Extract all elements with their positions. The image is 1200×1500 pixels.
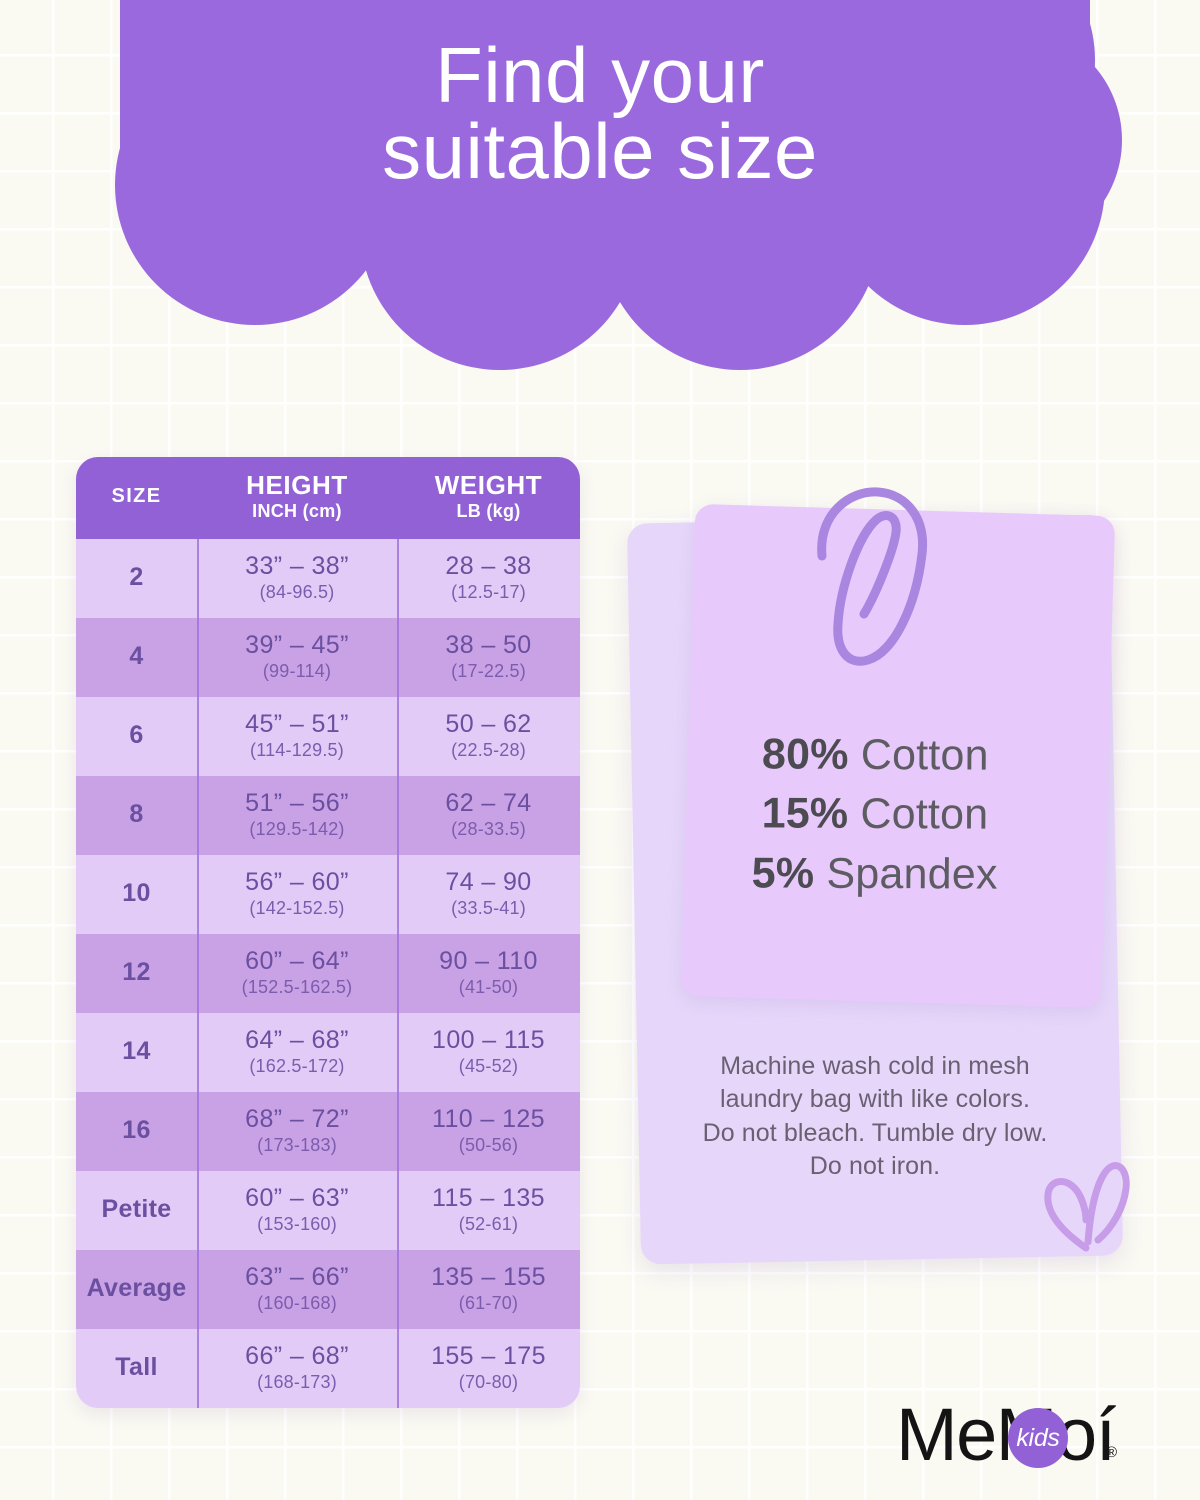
cell-weight-lb: 115 – 135 xyxy=(399,1184,578,1212)
care-instructions-text: Machine wash cold in meshlaundry bag wit… xyxy=(650,1050,1100,1183)
composition-line: 15% Cotton xyxy=(640,784,1110,846)
column-header-height-unit: INCH (cm) xyxy=(199,501,395,522)
care-line: Machine wash cold in mesh xyxy=(650,1050,1100,1083)
table-row: 1668” – 72”(173-183)110 – 125(50-56) xyxy=(76,1092,580,1171)
cell-height: 60” – 63”(153-160) xyxy=(197,1171,397,1250)
cell-height: 66” – 68”(168-173) xyxy=(197,1329,397,1408)
cell-size: 12 xyxy=(76,934,197,1013)
cell-size-value: Petite xyxy=(78,1184,195,1235)
cell-weight: 50 – 62(22.5-28) xyxy=(397,697,580,776)
column-header-weight-label: WEIGHT xyxy=(399,472,578,500)
cell-height-inches: 51” – 56” xyxy=(199,789,395,817)
column-header-size: SIZE xyxy=(76,457,197,539)
cell-weight-kg: (52-61) xyxy=(399,1214,578,1235)
cell-height-cm: (160-168) xyxy=(199,1293,395,1314)
cell-weight-kg: (22.5-28) xyxy=(399,740,578,761)
column-header-weight: WEIGHT LB (kg) xyxy=(397,457,580,539)
cell-height-inches: 45” – 51” xyxy=(199,710,395,738)
cell-weight: 74 – 90(33.5-41) xyxy=(397,855,580,934)
paperclip-icon xyxy=(806,484,956,680)
cell-weight: 62 – 74(28-33.5) xyxy=(397,776,580,855)
table-row: 439” – 45”(99-114)38 – 50(17-22.5) xyxy=(76,618,580,697)
cell-height-cm: (168-173) xyxy=(199,1372,395,1393)
care-line: laundry bag with like colors. xyxy=(650,1083,1100,1116)
cell-size-value: 12 xyxy=(78,947,195,998)
cell-height: 33” – 38”(84-96.5) xyxy=(197,539,397,618)
cell-weight-lb: 110 – 125 xyxy=(399,1105,578,1133)
table-row: 851” – 56”(129.5-142)62 – 74(28-33.5) xyxy=(76,776,580,855)
cell-height-cm: (99-114) xyxy=(199,661,395,682)
cell-size-value: Tall xyxy=(78,1342,195,1393)
composition-percent: 80% xyxy=(762,730,849,778)
cell-height-inches: 33” – 38” xyxy=(199,552,395,580)
cell-height-inches: 64” – 68” xyxy=(199,1026,395,1054)
cell-weight-kg: (61-70) xyxy=(399,1293,578,1314)
cell-height-inches: 66” – 68” xyxy=(199,1342,395,1370)
cell-size: Tall xyxy=(76,1329,197,1408)
cell-weight-kg: (28-33.5) xyxy=(399,819,578,840)
cell-weight: 110 – 125(50-56) xyxy=(397,1092,580,1171)
cell-height-inches: 68” – 72” xyxy=(199,1105,395,1133)
heart-icon xyxy=(1040,1156,1136,1260)
brand-logo: MeMoí kids ® xyxy=(896,1392,1146,1478)
table-row: Tall66” – 68”(168-173)155 – 175(70-80) xyxy=(76,1329,580,1408)
cell-weight-kg: (41-50) xyxy=(399,977,578,998)
table-row: 1464” – 68”(162.5-172)100 – 115(45-52) xyxy=(76,1013,580,1092)
cell-height: 56” – 60”(142-152.5) xyxy=(197,855,397,934)
composition-material: Cotton xyxy=(848,790,988,839)
cell-size: 4 xyxy=(76,618,197,697)
cell-weight-lb: 135 – 155 xyxy=(399,1263,578,1291)
cell-weight-lb: 74 – 90 xyxy=(399,868,578,896)
cell-weight-kg: (12.5-17) xyxy=(399,582,578,603)
cell-weight: 100 – 115(45-52) xyxy=(397,1013,580,1092)
table-row: Average63” – 66”(160-168)135 – 155(61-70… xyxy=(76,1250,580,1329)
care-line: Do not bleach. Tumble dry low. xyxy=(650,1117,1100,1150)
cell-weight: 115 – 135(52-61) xyxy=(397,1171,580,1250)
fabric-composition-list: 80% Cotton15% Cotton5% Spandex xyxy=(640,725,1111,905)
cell-height-cm: (114-129.5) xyxy=(199,740,395,761)
cell-weight-lb: 28 – 38 xyxy=(399,552,578,580)
table-header-row: SIZE HEIGHT INCH (cm) WEIGHT LB (kg) xyxy=(76,457,580,539)
cell-size-value: Average xyxy=(78,1263,195,1314)
cell-size-value: 2 xyxy=(78,552,195,603)
column-header-size-label: SIZE xyxy=(78,472,195,521)
cell-height: 64” – 68”(162.5-172) xyxy=(197,1013,397,1092)
cell-size: 2 xyxy=(76,539,197,618)
size-chart-table: SIZE HEIGHT INCH (cm) WEIGHT LB (kg) 233… xyxy=(76,457,580,1408)
composition-percent: 5% xyxy=(752,849,815,897)
cell-weight: 90 – 110(41-50) xyxy=(397,934,580,1013)
cell-height-inches: 63” – 66” xyxy=(199,1263,395,1291)
composition-material: Cotton xyxy=(849,731,989,780)
cell-size-value: 10 xyxy=(78,868,195,919)
cell-size-value: 8 xyxy=(78,789,195,840)
cell-weight-kg: (45-52) xyxy=(399,1056,578,1077)
cell-height-cm: (153-160) xyxy=(199,1214,395,1235)
cell-weight-kg: (50-56) xyxy=(399,1135,578,1156)
table-row: 645” – 51”(114-129.5)50 – 62(22.5-28) xyxy=(76,697,580,776)
cell-size-value: 6 xyxy=(78,710,195,761)
column-header-weight-unit: LB (kg) xyxy=(399,501,578,522)
title-line-1: Find your xyxy=(0,38,1200,114)
cell-height: 68” – 72”(173-183) xyxy=(197,1092,397,1171)
cell-weight-kg: (33.5-41) xyxy=(399,898,578,919)
cell-size-value: 4 xyxy=(78,631,195,682)
cell-height: 60” – 64”(152.5-162.5) xyxy=(197,934,397,1013)
cell-weight-lb: 62 – 74 xyxy=(399,789,578,817)
column-header-height: HEIGHT INCH (cm) xyxy=(197,457,397,539)
cell-height-cm: (84-96.5) xyxy=(199,582,395,603)
cell-size-value: 16 xyxy=(78,1105,195,1156)
cell-height-cm: (152.5-162.5) xyxy=(199,977,395,998)
cell-weight-lb: 50 – 62 xyxy=(399,710,578,738)
cell-height-inches: 56” – 60” xyxy=(199,868,395,896)
cell-weight-lb: 38 – 50 xyxy=(399,631,578,659)
cell-weight-lb: 90 – 110 xyxy=(399,947,578,975)
cell-weight-kg: (17-22.5) xyxy=(399,661,578,682)
registered-trademark-mark: ® xyxy=(1106,1444,1117,1461)
page-title: Find your suitable size xyxy=(0,38,1200,189)
cell-height: 51” – 56”(129.5-142) xyxy=(197,776,397,855)
cell-size-value: 14 xyxy=(78,1026,195,1077)
cell-weight: 155 – 175(70-80) xyxy=(397,1329,580,1408)
cell-height: 39” – 45”(99-114) xyxy=(197,618,397,697)
table-row: Petite60” – 63”(153-160)115 – 135(52-61) xyxy=(76,1171,580,1250)
cell-weight: 38 – 50(17-22.5) xyxy=(397,618,580,697)
cell-height: 63” – 66”(160-168) xyxy=(197,1250,397,1329)
cell-height-inches: 60” – 64” xyxy=(199,947,395,975)
cell-height-inches: 39” – 45” xyxy=(199,631,395,659)
cell-size: 8 xyxy=(76,776,197,855)
cell-size: 10 xyxy=(76,855,197,934)
cell-weight: 135 – 155(61-70) xyxy=(397,1250,580,1329)
cell-size: 14 xyxy=(76,1013,197,1092)
composition-material: Spandex xyxy=(814,849,998,898)
cell-size: Petite xyxy=(76,1171,197,1250)
table-row: 1056” – 60”(142-152.5)74 – 90(33.5-41) xyxy=(76,855,580,934)
cell-weight-kg: (70-80) xyxy=(399,1372,578,1393)
table-row: 1260” – 64”(152.5-162.5)90 – 110(41-50) xyxy=(76,934,580,1013)
cell-height-cm: (162.5-172) xyxy=(199,1056,395,1077)
composition-line: 80% Cotton xyxy=(640,725,1110,787)
cell-height-cm: (129.5-142) xyxy=(199,819,395,840)
cell-size: 6 xyxy=(76,697,197,776)
cell-weight-lb: 100 – 115 xyxy=(399,1026,578,1054)
cell-size: 16 xyxy=(76,1092,197,1171)
cell-height: 45” – 51”(114-129.5) xyxy=(197,697,397,776)
kids-badge: kids xyxy=(1008,1408,1068,1468)
cell-height-cm: (173-183) xyxy=(199,1135,395,1156)
table-row: 233” – 38”(84-96.5)28 – 38(12.5-17) xyxy=(76,539,580,618)
table-body: 233” – 38”(84-96.5)28 – 38(12.5-17)439” … xyxy=(76,539,580,1408)
logo-wordmark: MeMoí xyxy=(896,1392,1115,1478)
cell-height-cm: (142-152.5) xyxy=(199,898,395,919)
title-line-2: suitable size xyxy=(0,114,1200,190)
composition-percent: 15% xyxy=(762,790,849,838)
cell-height-inches: 60” – 63” xyxy=(199,1184,395,1212)
cell-weight-lb: 155 – 175 xyxy=(399,1342,578,1370)
cell-size: Average xyxy=(76,1250,197,1329)
composition-line: 5% Spandex xyxy=(640,843,1110,905)
care-line: Do not iron. xyxy=(650,1150,1100,1183)
column-header-height-label: HEIGHT xyxy=(199,472,395,500)
cell-weight: 28 – 38(12.5-17) xyxy=(397,539,580,618)
